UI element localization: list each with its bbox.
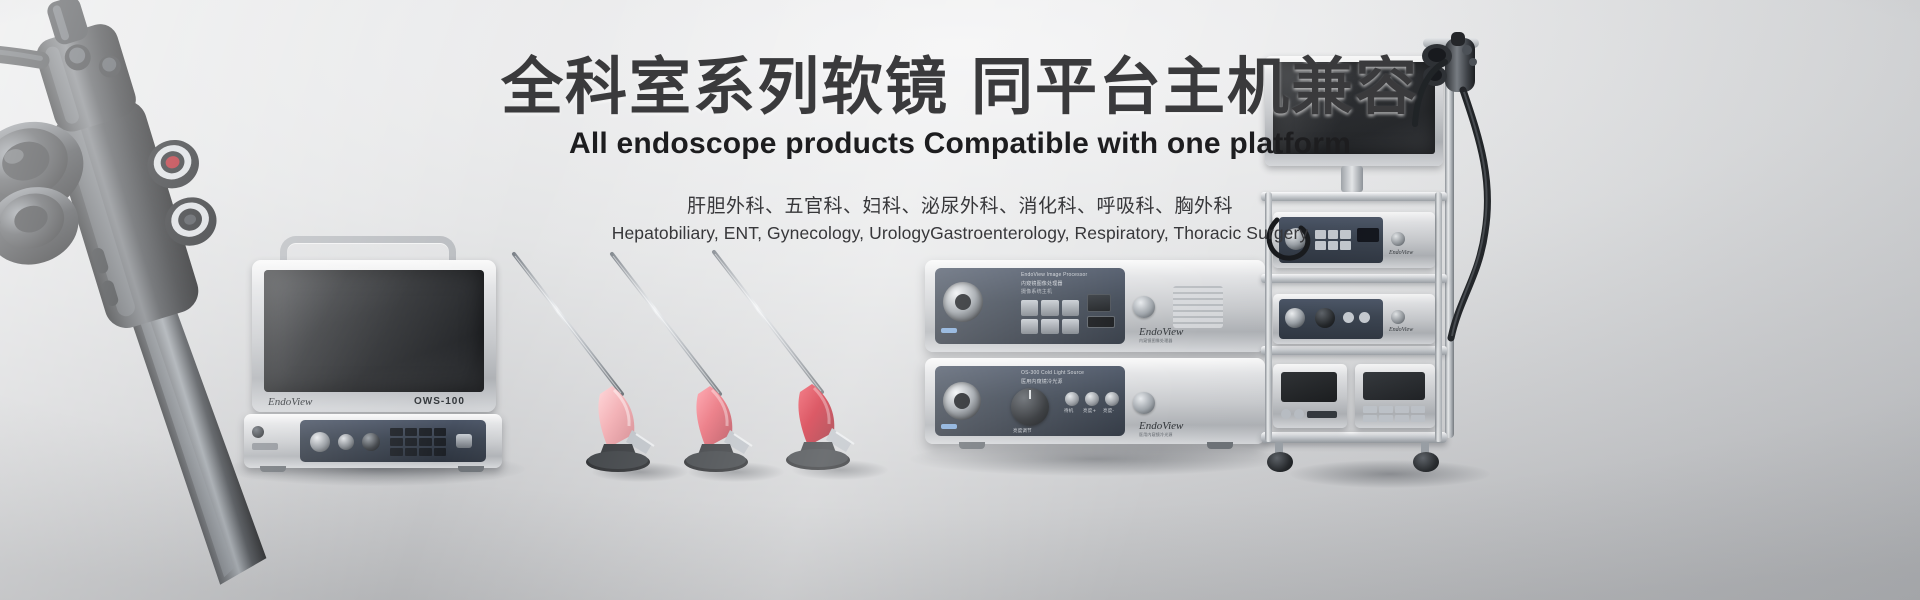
headline-en: All endoscope products Compatible with o…: [0, 127, 1920, 161]
tower-device-2-btn[interactable]: [1343, 312, 1354, 323]
cls-btn-up-label: 亮度+: [1083, 408, 1096, 414]
laparoscope-crimson: [700, 246, 870, 476]
tower-key[interactable]: [1379, 415, 1393, 422]
ccu-button[interactable]: [1021, 300, 1038, 316]
ccu-indicator: [941, 328, 957, 333]
cart-shelf-low: [1261, 346, 1447, 355]
keypad-key[interactable]: [419, 438, 432, 446]
keypad-key[interactable]: [390, 438, 403, 446]
keypad-key[interactable]: [390, 448, 403, 456]
monitor-workstation: EndoView OWS-100: [238, 236, 508, 468]
cls-power-button[interactable]: [1133, 392, 1155, 414]
headline-cn-part2: 同平台主机兼容: [971, 50, 1419, 123]
tower-device-3-screen: [1281, 372, 1337, 402]
ccu-title-en: EndoView Image Processor: [1021, 272, 1087, 278]
cls-btn-standby-label: 待机: [1064, 408, 1073, 414]
tower-device-3-btn[interactable]: [1281, 409, 1291, 419]
ccu-brand: EndoView: [1139, 326, 1183, 338]
cold-light-source: OS-300 Cold Light Source 医用内窥镜冷光源 亮度调节 待…: [925, 358, 1265, 444]
tower-key[interactable]: [1411, 415, 1425, 422]
keypad-key[interactable]: [434, 448, 447, 456]
workstation-brand: EndoView: [268, 396, 312, 408]
ccu-button[interactable]: [1021, 319, 1038, 335]
ccu-brand-sub: 内窥镜图像处理器: [1139, 338, 1173, 344]
tower-device-2: EndoView: [1273, 294, 1435, 344]
workstation-model: OWS-100: [414, 396, 465, 407]
keypad-key[interactable]: [390, 428, 403, 436]
foot: [458, 466, 484, 472]
departments-en: Hepatobiliary, ENT, Gynecology, UrologyG…: [0, 223, 1920, 244]
tower-device-3-controls[interactable]: [1281, 408, 1337, 420]
tower-device-2-knob[interactable]: [1315, 308, 1335, 328]
tower-key[interactable]: [1379, 406, 1393, 413]
keypad-key[interactable]: [434, 438, 447, 446]
ccu-button[interactable]: [1062, 300, 1079, 316]
ccu-usb-port[interactable]: [1087, 316, 1115, 328]
foot: [959, 442, 985, 449]
departments-cn: 肝胆外科、五官科、妇科、泌尿外科、消化科、呼吸科、胸外科: [0, 191, 1920, 218]
ccu-power-button[interactable]: [1133, 296, 1155, 318]
ccu-title-cn: 内窥镜图像处理器: [1021, 280, 1063, 287]
screen-glare: [264, 270, 484, 392]
product-banner: 全科室系列软镜同平台主机兼容 All endoscope products Co…: [0, 0, 1920, 600]
brightness-knob-indicator: [1029, 390, 1031, 399]
cls-btn-down[interactable]: [1105, 392, 1119, 406]
cls-title-en: OS-300 Cold Light Source: [1021, 370, 1084, 376]
tower-device-3-btn[interactable]: [1294, 409, 1304, 419]
brightness-knob-label: 亮度调节: [1013, 428, 1032, 434]
cls-btn-up[interactable]: [1085, 392, 1099, 406]
tower-device-2-btn[interactable]: [1359, 312, 1370, 323]
tower-device-4: [1355, 364, 1435, 428]
tower-device-2-power[interactable]: [1391, 310, 1405, 324]
ccu-button[interactable]: [1041, 319, 1058, 335]
power-button[interactable]: [456, 434, 472, 448]
ccu-sub-cn: 摄像系统主机: [1021, 288, 1052, 295]
cls-brand: EndoView: [1139, 420, 1183, 432]
panel-knob[interactable]: [362, 433, 380, 451]
port-group-left: [252, 426, 278, 450]
cls-btn-down-label: 亮度-: [1103, 408, 1114, 414]
ccu-vents: [1173, 286, 1223, 328]
cls-btn-standby[interactable]: [1065, 392, 1079, 406]
tower-device-2-port[interactable]: [1285, 308, 1305, 328]
keypad-key[interactable]: [405, 428, 418, 436]
tower-key[interactable]: [1363, 415, 1377, 422]
foot: [260, 466, 286, 472]
panel-connector-b[interactable]: [338, 434, 354, 450]
tower-device-1-brand: EndoView: [1389, 250, 1413, 256]
caster-right: [1413, 442, 1439, 472]
tower-device-4-keys[interactable]: [1363, 406, 1425, 422]
tower-device-2-brand: EndoView: [1389, 327, 1413, 333]
ccu-square-button[interactable]: [1087, 294, 1111, 312]
keypad-key[interactable]: [405, 438, 418, 446]
foot: [1207, 442, 1233, 449]
keypad-key[interactable]: [405, 448, 418, 456]
cls-title-cn: 医用内窥镜冷光源: [1021, 378, 1063, 385]
camera-control-unit: EndoView Image Processor 内窥镜图像处理器 摄像系统主机…: [925, 260, 1265, 352]
page-title: 全科室系列软镜同平台主机兼容: [0, 52, 1920, 121]
panel-connector-a[interactable]: [310, 432, 330, 452]
keypad-key[interactable]: [419, 448, 432, 456]
tower-device-3-slot[interactable]: [1307, 411, 1337, 418]
ccu-button[interactable]: [1041, 300, 1058, 316]
tower-key[interactable]: [1363, 406, 1377, 413]
caster-left: [1267, 442, 1293, 472]
tower-key[interactable]: [1411, 406, 1425, 413]
tower-key[interactable]: [1395, 406, 1409, 413]
ccu-button-cluster[interactable]: [1021, 300, 1079, 334]
keypad-key[interactable]: [419, 428, 432, 436]
tower-device-3: [1273, 364, 1347, 428]
cls-light-port-center: [954, 393, 970, 409]
keypad-key[interactable]: [434, 428, 447, 436]
banner-text-block: 全科室系列软镜同平台主机兼容 All endoscope products Co…: [0, 52, 1920, 244]
tower-key[interactable]: [1395, 415, 1409, 422]
cls-indicator: [941, 424, 957, 429]
tower-device-4-screen: [1363, 372, 1425, 400]
cls-brand-sub: 医用内窥镜冷光源: [1139, 432, 1173, 438]
keypad[interactable]: [390, 428, 446, 456]
ccu-scope-port-center: [955, 294, 971, 310]
ccu-button[interactable]: [1062, 319, 1079, 335]
headline-cn-part1: 全科室系列软镜: [501, 50, 949, 123]
